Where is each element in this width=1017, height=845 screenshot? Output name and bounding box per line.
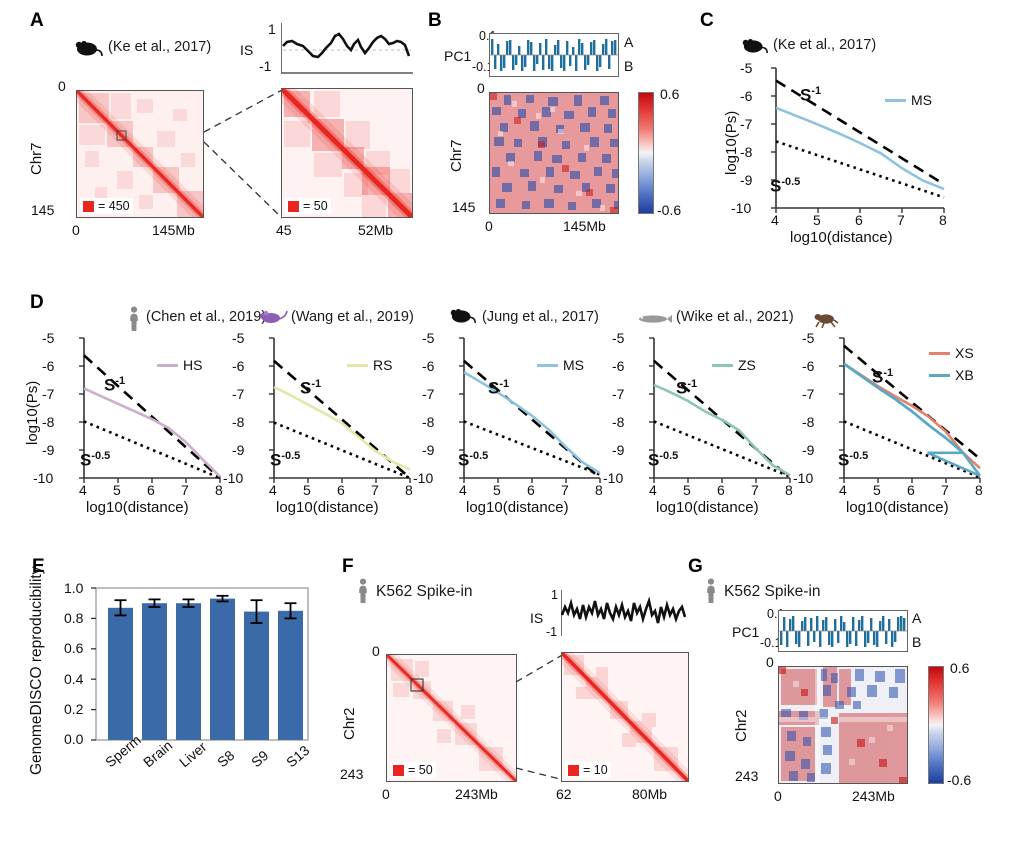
panel-g-x-left: 0 xyxy=(774,788,782,804)
panel-d5-ytick-2: -7 xyxy=(802,386,814,402)
panel-d3-xtick-2: 6 xyxy=(527,482,535,498)
panel-g-pc1-label: PC1 xyxy=(732,624,759,640)
panel-d2-ytick-3: -8 xyxy=(232,414,244,430)
panel-a-is-top: 1 xyxy=(268,21,276,37)
panel-d3-ytick-5: -10 xyxy=(413,470,433,486)
panel-g-title: K562 Spike-in xyxy=(724,583,821,601)
panel-letter-b: B xyxy=(428,10,442,32)
panel-a-chrom-label: Chr7 xyxy=(28,142,45,175)
panel-d1-ytick-3: -8 xyxy=(42,414,54,430)
panel-a-citation: (Ke et al., 2017) xyxy=(108,39,211,55)
panel-c-ylabel: log10(Ps) xyxy=(723,111,740,175)
panel-c-ref-upper: S-1 xyxy=(800,85,821,106)
panel-c-xtick-2: 6 xyxy=(855,212,863,228)
panel-d5-xtick-3: 7 xyxy=(941,482,949,498)
panel-b-heatmap[interactable] xyxy=(489,92,619,214)
panel-d5-xlabel: log10(distance) xyxy=(846,499,949,516)
panel-d1-ref-upper: S-1 xyxy=(104,375,125,396)
panel-d5-ytick-0: -5 xyxy=(802,330,814,346)
panel-d5-ytick-3: -8 xyxy=(802,414,814,430)
panel-a-scale-main-text: = 450 xyxy=(98,199,130,213)
panel-d5-xtick-2: 6 xyxy=(907,482,915,498)
legend-label-zs: ZS xyxy=(738,357,756,373)
panel-d1-ylabel: log10(Ps) xyxy=(24,381,41,445)
panel-g-compartment-b: B xyxy=(912,634,921,650)
panel-g-x-right: 243Mb xyxy=(852,788,895,804)
panel-letter-d: D xyxy=(30,292,44,314)
panel-e-chart[interactable] xyxy=(50,580,325,810)
panel-e-ytick-1: 0.2 xyxy=(64,701,83,717)
panel-f-is-label: IS xyxy=(530,610,543,626)
panel-d3-xlabel: log10(distance) xyxy=(466,499,569,516)
panel-e-ytick-4: 0.8 xyxy=(64,610,83,626)
legend-swatch-rs xyxy=(347,364,368,367)
panel-d5-xtick-1: 5 xyxy=(873,482,881,498)
panel-a-is-bottom: -1 xyxy=(259,58,271,74)
panel-c-ytick-3: -8 xyxy=(740,144,752,160)
panel-d3-ref-lower: S-0.5 xyxy=(458,450,488,471)
panel-d2-legend-rs: RS xyxy=(347,357,392,373)
panel-e-ytick-5: 1.0 xyxy=(64,580,83,596)
panel-d1-ytick-4: -9 xyxy=(42,442,54,458)
panel-a-y-bottom: 145 xyxy=(31,202,54,218)
panel-d1-ref-lower: S-0.5 xyxy=(80,450,110,471)
legend-label-rs: RS xyxy=(373,357,392,373)
panel-c-xtick-4: 8 xyxy=(939,212,947,228)
panel-f-x-right: 243Mb xyxy=(455,786,498,802)
panel-d2-xtick-3: 7 xyxy=(371,482,379,498)
panel-d5-ref-upper: S-1 xyxy=(872,367,893,388)
legend-swatch-xb xyxy=(929,374,950,377)
panel-e-ylabel: GenomeDISCO reproducibility xyxy=(28,567,46,775)
panel-b-colorbar xyxy=(638,92,654,214)
panel-d3-ref-upper: S-1 xyxy=(488,378,509,399)
panel-c-legend-ms: MS xyxy=(885,92,932,108)
panel-a-x-right: 145Mb xyxy=(152,222,195,238)
legend-swatch-ms xyxy=(537,364,558,367)
panel-d1-ytick-2: -7 xyxy=(42,386,54,402)
panel-e-ytick-3: 0.6 xyxy=(64,640,83,656)
panel-g-cbar-min: -0.6 xyxy=(947,772,971,788)
panel-d1-xtick-2: 6 xyxy=(147,482,155,498)
panel-d2-xlabel: log10(distance) xyxy=(276,499,379,516)
panel-c-xlabel: log10(distance) xyxy=(790,229,893,246)
panel-a-zoom-x-left: 45 xyxy=(276,222,292,238)
legend-label-xb: XB xyxy=(955,367,974,383)
panel-d2-ytick-0: -5 xyxy=(232,330,244,346)
panel-d4-xtick-3: 7 xyxy=(751,482,759,498)
scale-swatch-icon xyxy=(288,201,299,212)
panel-e-ytick-0: 0.0 xyxy=(64,731,83,747)
panel-a-scalebar-zoom: = 50 xyxy=(285,198,331,214)
panel-f-is-bottom: -1 xyxy=(546,625,557,639)
panel-g-y-bottom: 243 xyxy=(735,768,758,784)
panel-d2-ytick-1: -6 xyxy=(232,358,244,374)
panel-d2-ytick-4: -9 xyxy=(232,442,244,458)
panel-c-ytick-0: -5 xyxy=(740,60,752,76)
panel-a-y-top: 0 xyxy=(58,78,66,94)
panel-d3-citation: (Jung et al., 2017) xyxy=(482,309,599,325)
panel-d2-ytick-5: -10 xyxy=(223,470,243,486)
panel-d4-xtick-1: 5 xyxy=(683,482,691,498)
panel-d2-xtick-2: 6 xyxy=(337,482,345,498)
panel-c-ytick-1: -6 xyxy=(740,88,752,104)
panel-g-y-top: 0 xyxy=(766,654,774,670)
panel-b-x-left: 0 xyxy=(485,218,493,234)
panel-d4-ytick-5: -10 xyxy=(603,470,623,486)
panel-d4-ytick-2: -7 xyxy=(612,386,624,402)
frog-icon-d5 xyxy=(813,310,839,328)
legend-label-ms: MS xyxy=(563,357,584,373)
panel-b-y-top: 0 xyxy=(477,80,485,96)
panel-f-y-top: 0 xyxy=(372,643,380,659)
panel-d2-xtick-1: 5 xyxy=(303,482,311,498)
panel-d1-ytick-5: -10 xyxy=(33,470,53,486)
panel-d3-ytick-0: -5 xyxy=(422,330,434,346)
legend-label-xs: XS xyxy=(955,345,974,361)
panel-g-colorbar xyxy=(928,666,944,784)
legend-label-hs: HS xyxy=(183,357,202,373)
panel-b-chrom-label: Chr7 xyxy=(448,139,465,172)
panel-d4-ref-upper: S-1 xyxy=(676,378,697,399)
panel-d5-xtick-0: 4 xyxy=(839,482,847,498)
panel-a-is-track xyxy=(281,22,413,74)
panel-d4-citation: (Wike et al., 2021) xyxy=(676,309,794,325)
panel-c-xtick-0: 4 xyxy=(771,212,779,228)
panel-c-xtick-3: 7 xyxy=(897,212,905,228)
panel-f-scalebar-zoom: = 10 xyxy=(565,762,611,778)
panel-c-ytick-4: -9 xyxy=(740,172,752,188)
panel-b-cbar-min: -0.6 xyxy=(657,202,681,218)
panel-g-chrom-label: Chr2 xyxy=(733,709,750,742)
panel-d3-ytick-3: -8 xyxy=(422,414,434,430)
panel-d5-ytick-5: -10 xyxy=(793,470,813,486)
panel-f-zoom-connector xyxy=(516,650,566,785)
panel-c-ytick-5: -10 xyxy=(731,200,751,216)
panel-f-zoom-x-right: 80Mb xyxy=(632,786,667,802)
panel-letter-c: C xyxy=(700,10,714,32)
panel-a-zoom-x-right: 52Mb xyxy=(358,222,393,238)
panel-d3-ytick-2: -7 xyxy=(422,386,434,402)
panel-b-compartment-a: A xyxy=(624,34,633,50)
panel-d4-xtick-0: 4 xyxy=(649,482,657,498)
legend-swatch-zs xyxy=(712,364,733,367)
scale-swatch-icon xyxy=(83,201,94,212)
panel-d2-xtick-0: 4 xyxy=(269,482,277,498)
panel-d3-xtick-1: 5 xyxy=(493,482,501,498)
legend-label-ms: MS xyxy=(911,92,932,108)
panel-f-scale-zoom-text: = 10 xyxy=(583,763,608,777)
scale-swatch-icon xyxy=(568,765,579,776)
legend-swatch-xs xyxy=(929,352,950,355)
panel-d4-ytick-1: -6 xyxy=(612,358,624,374)
panel-d5-ytick-1: -6 xyxy=(802,358,814,374)
panel-b-cbar-max: 0.6 xyxy=(660,86,679,102)
panel-f-y-bottom: 243 xyxy=(340,766,363,782)
panel-d3-ytick-1: -6 xyxy=(422,358,434,374)
panel-letter-g: G xyxy=(688,556,703,578)
panel-d1-xlabel: log10(distance) xyxy=(86,499,189,516)
rat-icon-d2 xyxy=(258,308,288,326)
panel-d1-xtick-3: 7 xyxy=(181,482,189,498)
human-icon-d1 xyxy=(128,306,140,332)
panel-d5-ref-lower: S-0.5 xyxy=(838,450,868,471)
panel-g-compartment-a: A xyxy=(912,610,921,626)
panel-d1-legend-hs: HS xyxy=(157,357,202,373)
human-icon-f xyxy=(357,578,369,604)
panel-d4-xlabel: log10(distance) xyxy=(656,499,759,516)
human-icon-g xyxy=(705,578,717,604)
panel-d4-ytick-4: -9 xyxy=(612,442,624,458)
panel-g-pc1-track xyxy=(778,610,908,652)
panel-d4-legend-zs: ZS xyxy=(712,357,756,373)
panel-a-scale-zoom-text: = 50 xyxy=(303,199,328,213)
panel-d4-xtick-2: 6 xyxy=(717,482,725,498)
panel-c-ytick-2: -7 xyxy=(740,116,752,132)
panel-a-scalebar-main: = 450 xyxy=(80,198,133,214)
panel-f-is-top: 1 xyxy=(551,588,558,602)
panel-b-x-right: 145Mb xyxy=(563,218,606,234)
panel-d5-xtick-4: 8 xyxy=(975,482,983,498)
panel-e-ytick-2: 0.4 xyxy=(64,671,83,687)
panel-d3-xtick-3: 7 xyxy=(561,482,569,498)
panel-b-compartment-b: B xyxy=(624,58,633,74)
panel-d5-legend-xb: XB xyxy=(929,367,974,383)
panel-b-y-bottom: 145 xyxy=(452,199,475,215)
panel-a-x-left: 0 xyxy=(72,222,80,238)
panel-g-cbar-max: 0.6 xyxy=(950,660,969,676)
panel-b-pc1-label: PC1 xyxy=(444,48,471,64)
panel-d5-ytick-4: -9 xyxy=(802,442,814,458)
panel-d1-xtick-1: 5 xyxy=(113,482,121,498)
panel-a-zoom-connector xyxy=(204,90,284,220)
panel-f-scalebar-main: = 50 xyxy=(390,762,436,778)
panel-d2-ref-upper: S-1 xyxy=(300,378,321,399)
legend-swatch-hs xyxy=(157,364,178,367)
mouse-icon-a xyxy=(75,40,105,58)
panel-d3-ytick-4: -9 xyxy=(422,442,434,458)
panel-d1-xtick-0: 4 xyxy=(79,482,87,498)
panel-d4-ytick-0: -5 xyxy=(612,330,624,346)
panel-c-citation: (Ke et al., 2017) xyxy=(773,37,876,53)
panel-d1-citation: (Chen et al., 2019) xyxy=(146,309,266,325)
panel-d4-ytick-3: -8 xyxy=(612,414,624,430)
panel-g-heatmap[interactable] xyxy=(778,666,908,784)
legend-swatch-ms xyxy=(885,99,906,102)
panel-d4-ref-lower: S-0.5 xyxy=(648,450,678,471)
panel-letter-f: F xyxy=(342,556,354,578)
panel-f-zoom-x-left: 62 xyxy=(556,786,572,802)
fish-icon-d4 xyxy=(634,312,672,326)
panel-c-xtick-1: 5 xyxy=(813,212,821,228)
panel-c-ref-lower: S-0.5 xyxy=(770,176,800,197)
panel-f-chrom-label: Chr2 xyxy=(341,707,358,740)
panel-d2-ref-lower: S-0.5 xyxy=(270,450,300,471)
panel-d2-ytick-2: -7 xyxy=(232,386,244,402)
panel-d3-xtick-0: 4 xyxy=(459,482,467,498)
panel-d2-citation: (Wang et al., 2019) xyxy=(291,309,414,325)
panel-f-is-track xyxy=(561,589,688,637)
panel-f-scale-main-text: = 50 xyxy=(408,763,433,777)
panel-d3-legend-ms: MS xyxy=(537,357,584,373)
panel-b-pc1-track xyxy=(489,33,619,77)
mouse-icon-d3 xyxy=(450,308,478,325)
panel-a-is-label: IS xyxy=(240,42,253,58)
panel-letter-a: A xyxy=(30,10,44,32)
panel-f-title: K562 Spike-in xyxy=(376,583,473,601)
panel-d1-ytick-0: -5 xyxy=(42,330,54,346)
panel-d5-legend-xs: XS xyxy=(929,345,974,361)
panel-d1-ytick-1: -6 xyxy=(42,358,54,374)
mouse-icon-c xyxy=(742,38,770,55)
scale-swatch-icon xyxy=(393,765,404,776)
panel-f-x-left: 0 xyxy=(382,786,390,802)
